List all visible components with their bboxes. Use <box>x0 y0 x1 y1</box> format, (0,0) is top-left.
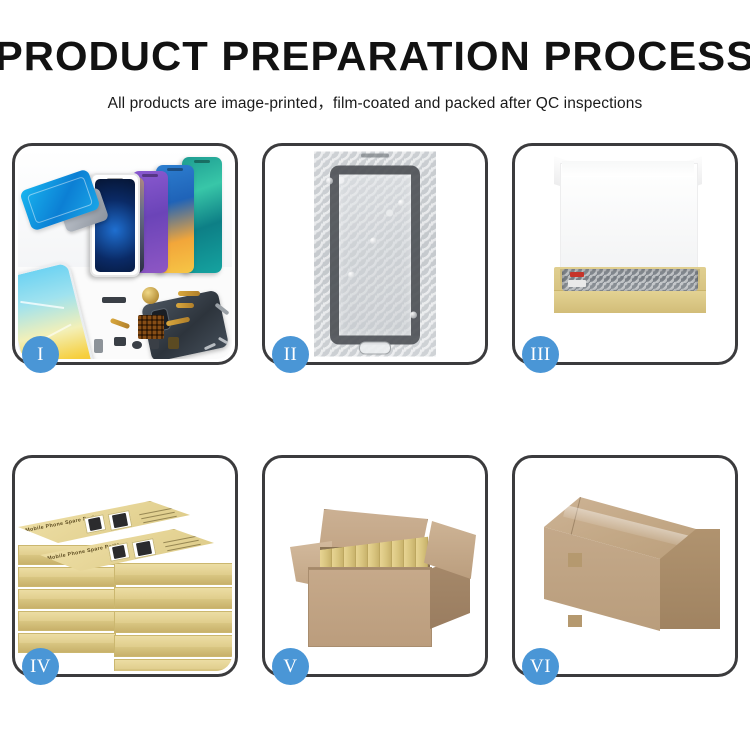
box-side <box>115 575 232 584</box>
open-carton-photo <box>268 461 482 671</box>
foam-padding-top <box>562 161 694 177</box>
step-4-image: Mobile Phone Spare Parts Mobile Phon <box>18 461 232 671</box>
box-stack: Mobile Phone Spare Parts Mobile Phon <box>18 467 232 671</box>
screen-crack-1 <box>20 301 64 309</box>
box-side <box>115 647 232 656</box>
wrapped-screen-in-box <box>562 269 698 291</box>
step-badge-5: V <box>272 648 309 685</box>
page-subtitle: All products are image-printed，film-coat… <box>0 91 750 113</box>
process-row-bottom: Mobile Phone Spare Parts Mobile Phon <box>12 455 738 677</box>
box-side <box>115 623 232 632</box>
box-phone-image-4 <box>108 510 133 531</box>
step-2-image <box>268 149 482 359</box>
step-3-image <box>518 149 732 359</box>
stacked-box-r5 <box>114 659 232 671</box>
box-side <box>115 669 232 671</box>
red-label <box>570 272 584 277</box>
open-kraft-box-photo <box>518 149 732 359</box>
bubble-2 <box>398 200 405 207</box>
bubble-wrapped-screen-photo <box>268 149 482 359</box>
process-step-4: Mobile Phone Spare Parts Mobile Phon <box>12 455 238 677</box>
part-small-4 <box>168 337 179 349</box>
carton-tab-lower <box>568 615 582 627</box>
stacked-box-l4 <box>18 611 116 631</box>
box-side <box>19 599 115 608</box>
tray-front-face <box>554 290 706 313</box>
process-step-1: I <box>12 143 238 365</box>
process-step-grid: I <box>12 143 738 677</box>
sealed-carton-photo <box>518 461 732 671</box>
page-title: PRODUCT PREPARATION PROCESS <box>0 36 750 77</box>
step-badge-4: IV <box>22 648 59 685</box>
stacked-kraft-boxes-photo: Mobile Phone Spare Parts Mobile Phon <box>18 461 232 671</box>
part-chip-grid <box>138 315 164 339</box>
bubble-4 <box>410 312 417 319</box>
outer-carton-open <box>290 495 470 653</box>
phone-fan-group <box>90 155 232 275</box>
part-flex-cable-2 <box>176 303 194 308</box>
box-phone-image-3 <box>84 514 107 534</box>
step-5-image <box>268 461 482 671</box>
process-step-6: VI <box>512 455 738 677</box>
white-label <box>568 280 586 287</box>
product-preparation-infographic: PRODUCT PREPARATION PROCESS All products… <box>0 0 750 750</box>
step-6-image <box>518 461 732 671</box>
bubble-5 <box>370 238 377 245</box>
box-phone-image-1 <box>108 542 131 562</box>
process-step-3: III <box>512 143 738 365</box>
box-side <box>19 621 115 630</box>
part-small-3 <box>150 339 159 349</box>
carton-front-face <box>308 569 432 647</box>
part-small-5 <box>94 339 103 353</box>
earpiece-slot <box>361 154 389 158</box>
step-badge-6: VI <box>522 648 559 685</box>
phone-screen-blue <box>95 179 135 272</box>
stacked-box-r3 <box>114 611 232 633</box>
carton-tab-upper <box>568 553 582 567</box>
part-flex-cable-1 <box>178 291 200 296</box>
stacked-box-r4 <box>114 635 232 657</box>
outer-carton-sealed <box>544 497 720 649</box>
stacked-box-l2 <box>18 567 116 587</box>
part-small-2 <box>132 341 142 349</box>
box-side <box>19 577 115 586</box>
step-badge-1: I <box>22 336 59 373</box>
step-1-image <box>18 149 232 359</box>
step-badge-2: II <box>272 336 309 373</box>
bubble-1 <box>326 178 333 185</box>
bubble-wrap-sheet <box>314 152 436 357</box>
process-step-5: V <box>262 455 488 677</box>
stacked-box-l3 <box>18 589 116 609</box>
part-flex-cable-3 <box>110 318 131 330</box>
step-badge-3: III <box>522 336 559 373</box>
process-step-2: II <box>262 143 488 365</box>
phone-front-glass <box>330 166 420 345</box>
bubble-3 <box>348 272 355 279</box>
stacked-box-r1 <box>114 563 232 585</box>
process-row-top: I <box>12 143 738 365</box>
home-button <box>359 342 391 355</box>
part-coil <box>142 287 159 304</box>
header: PRODUCT PREPARATION PROCESS All products… <box>0 0 750 113</box>
foam-padding-back <box>560 163 698 277</box>
stacked-box-r2 <box>114 587 232 609</box>
part-small-1 <box>114 337 126 346</box>
box-side <box>115 599 232 608</box>
box-phone-image-2 <box>132 538 157 559</box>
phone-parts-photo <box>18 149 232 359</box>
part-connector-strip <box>102 297 126 303</box>
